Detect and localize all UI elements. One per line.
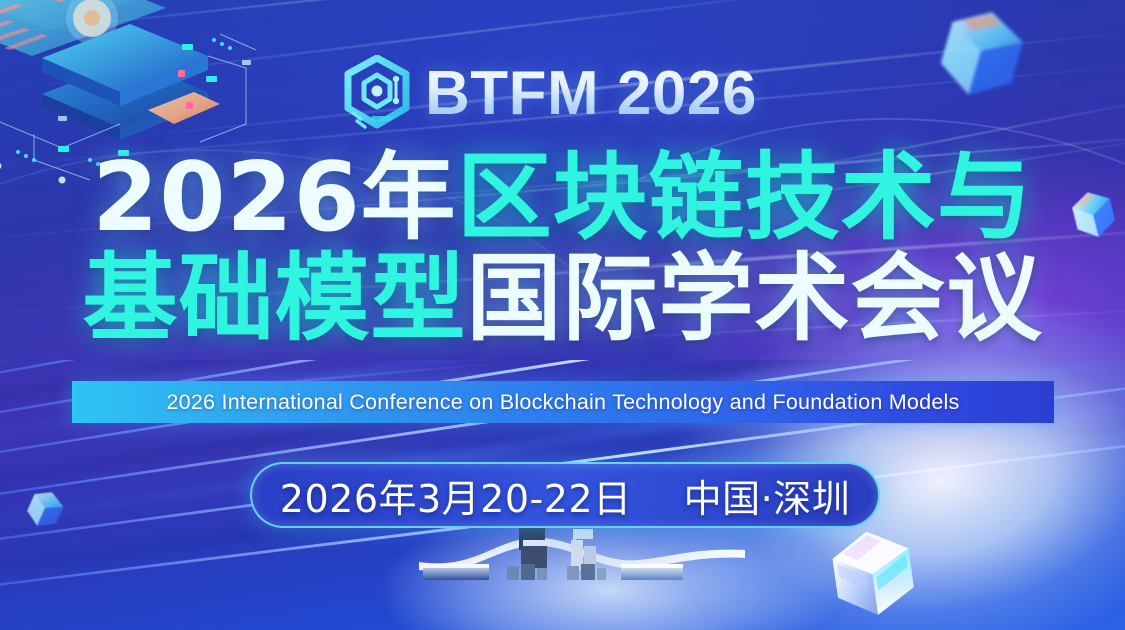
title-line2-segment-white: 国际学术会议 bbox=[467, 244, 1043, 354]
crystal-cube-icon bbox=[18, 478, 72, 538]
shenzhen-skyline-icon bbox=[415, 522, 765, 594]
event-location: 中国·深圳 bbox=[684, 468, 851, 523]
title-line1-segment-white: 2026年 bbox=[92, 143, 456, 253]
event-details-pill: 2026年3月20-22日 中国·深圳 bbox=[250, 462, 880, 528]
subtitle-bar: 2026 International Conference on Blockch… bbox=[72, 381, 1054, 423]
title-line2-segment-cyan: 基础模型 bbox=[82, 244, 466, 354]
subtitle-text: 2026 International Conference on Blockch… bbox=[166, 390, 959, 415]
event-date: 2026年3月20-22日 bbox=[280, 468, 632, 523]
page-title: 2026年区块链技术与 基础模型国际学术会议 bbox=[0, 152, 1125, 346]
title-line-2: 基础模型国际学术会议 bbox=[0, 253, 1125, 346]
brand-acronym: BTFM 2026 bbox=[425, 63, 757, 125]
title-line-1: 2026年区块链技术与 bbox=[0, 152, 1125, 245]
blockchain-hexagon-icon bbox=[343, 55, 411, 133]
title-line1-segment-cyan: 区块链技术与 bbox=[457, 143, 1033, 253]
brand-row: BTFM 2026 bbox=[343, 55, 757, 133]
crystal-cube-icon bbox=[818, 516, 930, 628]
conference-banner: BTFM 2026 2026年区块链技术与 基础模型国际学术会议 2026 In… bbox=[0, 0, 1125, 630]
crystal-cube-icon bbox=[915, 0, 1047, 114]
